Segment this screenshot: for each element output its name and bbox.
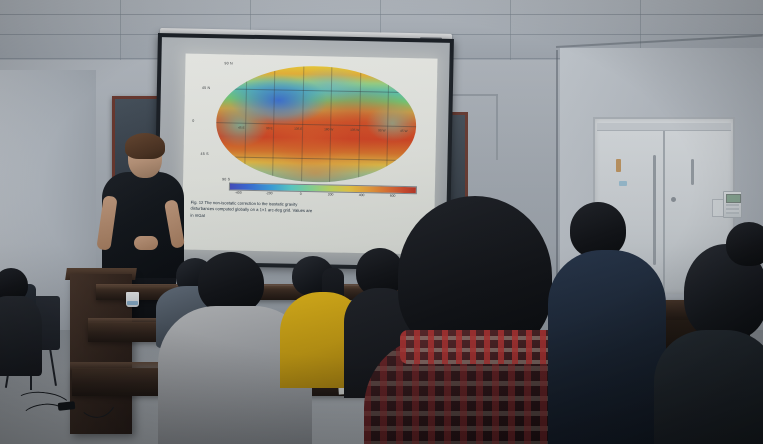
panel-buttons[interactable] xyxy=(726,204,739,214)
audience-collar-plaid xyxy=(400,330,560,364)
audience-head-gray-hoodie xyxy=(198,252,264,314)
screen-surface: 90 N 45 N 0 45 S 90 S xyxy=(157,37,449,267)
lon-tick-135e: 135 E xyxy=(294,127,302,131)
projected-slide: 90 N 45 N 0 45 S 90 S xyxy=(182,54,438,255)
presenter-hand xyxy=(134,236,158,250)
colorbar-tick-200: 200 xyxy=(328,192,334,196)
colorbar-tick--200: -200 xyxy=(266,191,273,195)
lon-tick-90w: 90 W xyxy=(378,129,386,133)
door-lock-icon[interactable] xyxy=(671,197,676,202)
lon-tick-45w: 45 W xyxy=(400,129,408,133)
lat-tick-90n: 90 N xyxy=(224,61,232,65)
audience-body-left-edge xyxy=(0,296,42,376)
lon-tick-45e: 45 E xyxy=(238,126,245,130)
ac-control-panel[interactable] xyxy=(723,191,742,218)
lat-tick-45n: 45 N xyxy=(202,86,210,90)
lecture-room-photo: 90 N 45 N 0 45 S 90 S xyxy=(0,0,763,444)
door-transom xyxy=(597,123,731,131)
slide-content: 90 N 45 N 0 45 S 90 S xyxy=(182,54,438,255)
colorbar-tick--400: -400 xyxy=(235,191,242,195)
global-gravity-heatmap: 45 E 90 E 135 E 180 W 135 W 90 W 45 W xyxy=(215,64,417,184)
lat-tick-45s: 45 S xyxy=(201,152,209,156)
door-split xyxy=(663,131,665,294)
lat-tick-90s: 90 S xyxy=(222,177,230,181)
audience-head-right-edge xyxy=(726,222,763,266)
audience-body-navy xyxy=(548,250,666,444)
figure-caption: Fig. 12 The non-isostatic correction to … xyxy=(190,200,426,224)
lat-tick-0: 0 xyxy=(192,119,194,123)
door-handle-left[interactable] xyxy=(653,155,656,265)
panel-lcd-screen xyxy=(726,194,741,203)
lon-tick-90e: 90 E xyxy=(266,127,273,131)
colorbar-tick-600: 600 xyxy=(390,194,396,198)
lon-tick-180w: 180 W xyxy=(324,128,333,132)
door-plate xyxy=(616,159,621,172)
figure-map: 90 N 45 N 0 45 S 90 S xyxy=(189,59,431,190)
door-handle-right[interactable] xyxy=(691,159,694,185)
paper-cup-left[interactable] xyxy=(126,292,139,307)
colorbar-tick-0: 0 xyxy=(300,192,302,196)
wall-conduit-vertical xyxy=(496,94,498,160)
lon-tick-135w: 135 W xyxy=(350,128,359,132)
audience-body-right-front xyxy=(654,330,763,444)
presenter-hair xyxy=(125,133,165,159)
door-sign xyxy=(619,181,627,186)
colorbar-tick-400: 400 xyxy=(359,193,365,197)
